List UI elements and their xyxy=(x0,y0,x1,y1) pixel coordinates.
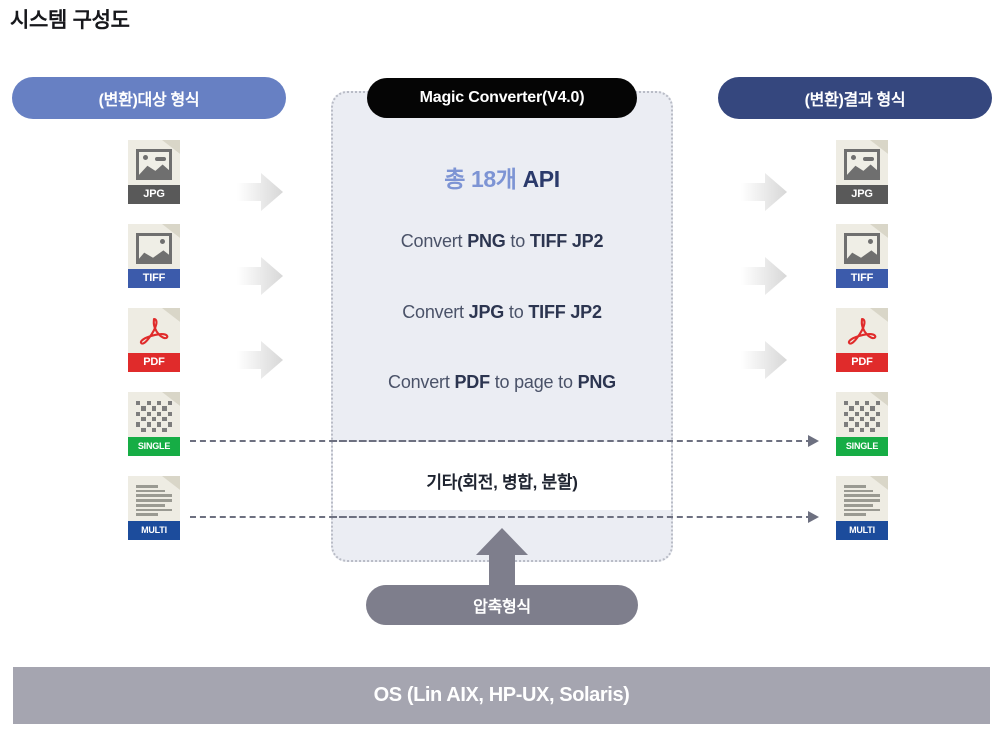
result-file-icon-jpg: JPG xyxy=(836,140,888,204)
bypass-arrowhead-single xyxy=(808,435,819,447)
dither-dots-icon xyxy=(136,401,172,432)
compression-format-label: 압축형식 xyxy=(473,593,531,617)
conversion-2-from: JPG xyxy=(469,302,504,322)
compression-up-arrow xyxy=(476,528,528,588)
api-count-suffix: API xyxy=(523,166,560,192)
result-arrow-tiff xyxy=(741,254,787,298)
source-file-icon-pdf: PDF xyxy=(128,308,180,372)
page-title: 시스템 구성도 xyxy=(10,4,130,34)
conversion-1-to: TIFF JP2 xyxy=(530,231,603,251)
source-file-label-single: SINGLE xyxy=(128,437,180,456)
result-format-header-label: (변환)결과 형식 xyxy=(805,86,906,110)
source-file-icon-jpg: JPG xyxy=(128,140,180,204)
bypass-line-multi xyxy=(190,516,812,518)
conversion-3-mid: to page to xyxy=(495,372,573,392)
source-file-label-jpg: JPG xyxy=(128,185,180,204)
result-file-icon-tiff: TIFF xyxy=(836,224,888,288)
conversion-3-to: PNG xyxy=(578,372,616,392)
text-lines-icon xyxy=(844,485,880,516)
api-count-prefix: 총 18개 xyxy=(444,166,516,192)
system-architecture-diagram: 시스템 구성도 (변환)대상 형식 (변환)결과 형식 Magic Conver… xyxy=(0,0,1003,735)
result-file-label-tiff: TIFF xyxy=(836,269,888,288)
converter-title-label: Magic Converter(V4.0) xyxy=(420,89,585,107)
flow-arrow-tiff xyxy=(237,254,283,298)
conversion-1-from: PNG xyxy=(467,231,505,251)
pdf-icon xyxy=(844,317,880,348)
source-format-header: (변환)대상 형식 xyxy=(12,77,286,119)
conversion-3-verb: Convert xyxy=(388,372,450,392)
source-file-icon-tiff: TIFF xyxy=(128,224,180,288)
result-file-icon-pdf: PDF xyxy=(836,308,888,372)
result-file-icon-single: SINGLE xyxy=(836,392,888,456)
result-file-label-single: SINGLE xyxy=(836,437,888,456)
conversion-line-2: Convert JPG to TIFF JP2 xyxy=(331,302,673,323)
flow-arrow-pdf xyxy=(237,338,283,382)
result-file-icon-multi: MULTI xyxy=(836,476,888,540)
api-count-text: 총 18개 API xyxy=(331,160,673,194)
result-format-header: (변환)결과 형식 xyxy=(718,77,992,119)
bypass-arrowhead-multi xyxy=(808,511,819,523)
conversion-1-verb: Convert xyxy=(401,231,463,251)
source-file-icon-multi: MULTI xyxy=(128,476,180,540)
conversion-line-3: Convert PDF to page to PNG xyxy=(331,372,673,393)
result-arrow-jpg xyxy=(741,170,787,214)
picture-icon xyxy=(136,233,172,264)
conversion-line-1: Convert PNG to TIFF JP2 xyxy=(331,231,673,252)
compression-format-badge: 압축형식 xyxy=(366,585,638,625)
os-platform-label: OS (Lin AIX, HP-UX, Solaris) xyxy=(374,684,630,707)
source-file-label-multi: MULTI xyxy=(128,521,180,540)
os-platform-bar: OS (Lin AIX, HP-UX, Solaris) xyxy=(13,667,990,724)
source-file-icon-single: SINGLE xyxy=(128,392,180,456)
result-file-label-jpg: JPG xyxy=(836,185,888,204)
picture-icon xyxy=(136,149,172,180)
source-file-label-tiff: TIFF xyxy=(128,269,180,288)
flow-arrow-jpg xyxy=(237,170,283,214)
conversion-2-verb: Convert xyxy=(402,302,464,322)
converter-title-badge: Magic Converter(V4.0) xyxy=(367,78,637,118)
result-arrow-pdf xyxy=(741,338,787,382)
etc-operations-label: 기타(회전, 병합, 분할) xyxy=(331,468,673,493)
picture-icon xyxy=(844,149,880,180)
conversion-2-to: TIFF JP2 xyxy=(528,302,601,322)
conversion-1-mid: to xyxy=(510,231,525,251)
picture-icon xyxy=(844,233,880,264)
source-file-label-pdf: PDF xyxy=(128,353,180,372)
result-file-label-multi: MULTI xyxy=(836,521,888,540)
bypass-line-single xyxy=(190,440,812,442)
dither-dots-icon xyxy=(844,401,880,432)
pdf-icon xyxy=(136,317,172,348)
text-lines-icon xyxy=(136,485,172,516)
result-file-label-pdf: PDF xyxy=(836,353,888,372)
source-format-header-label: (변환)대상 형식 xyxy=(99,86,200,110)
conversion-2-mid: to xyxy=(509,302,524,322)
conversion-3-from: PDF xyxy=(454,372,489,392)
